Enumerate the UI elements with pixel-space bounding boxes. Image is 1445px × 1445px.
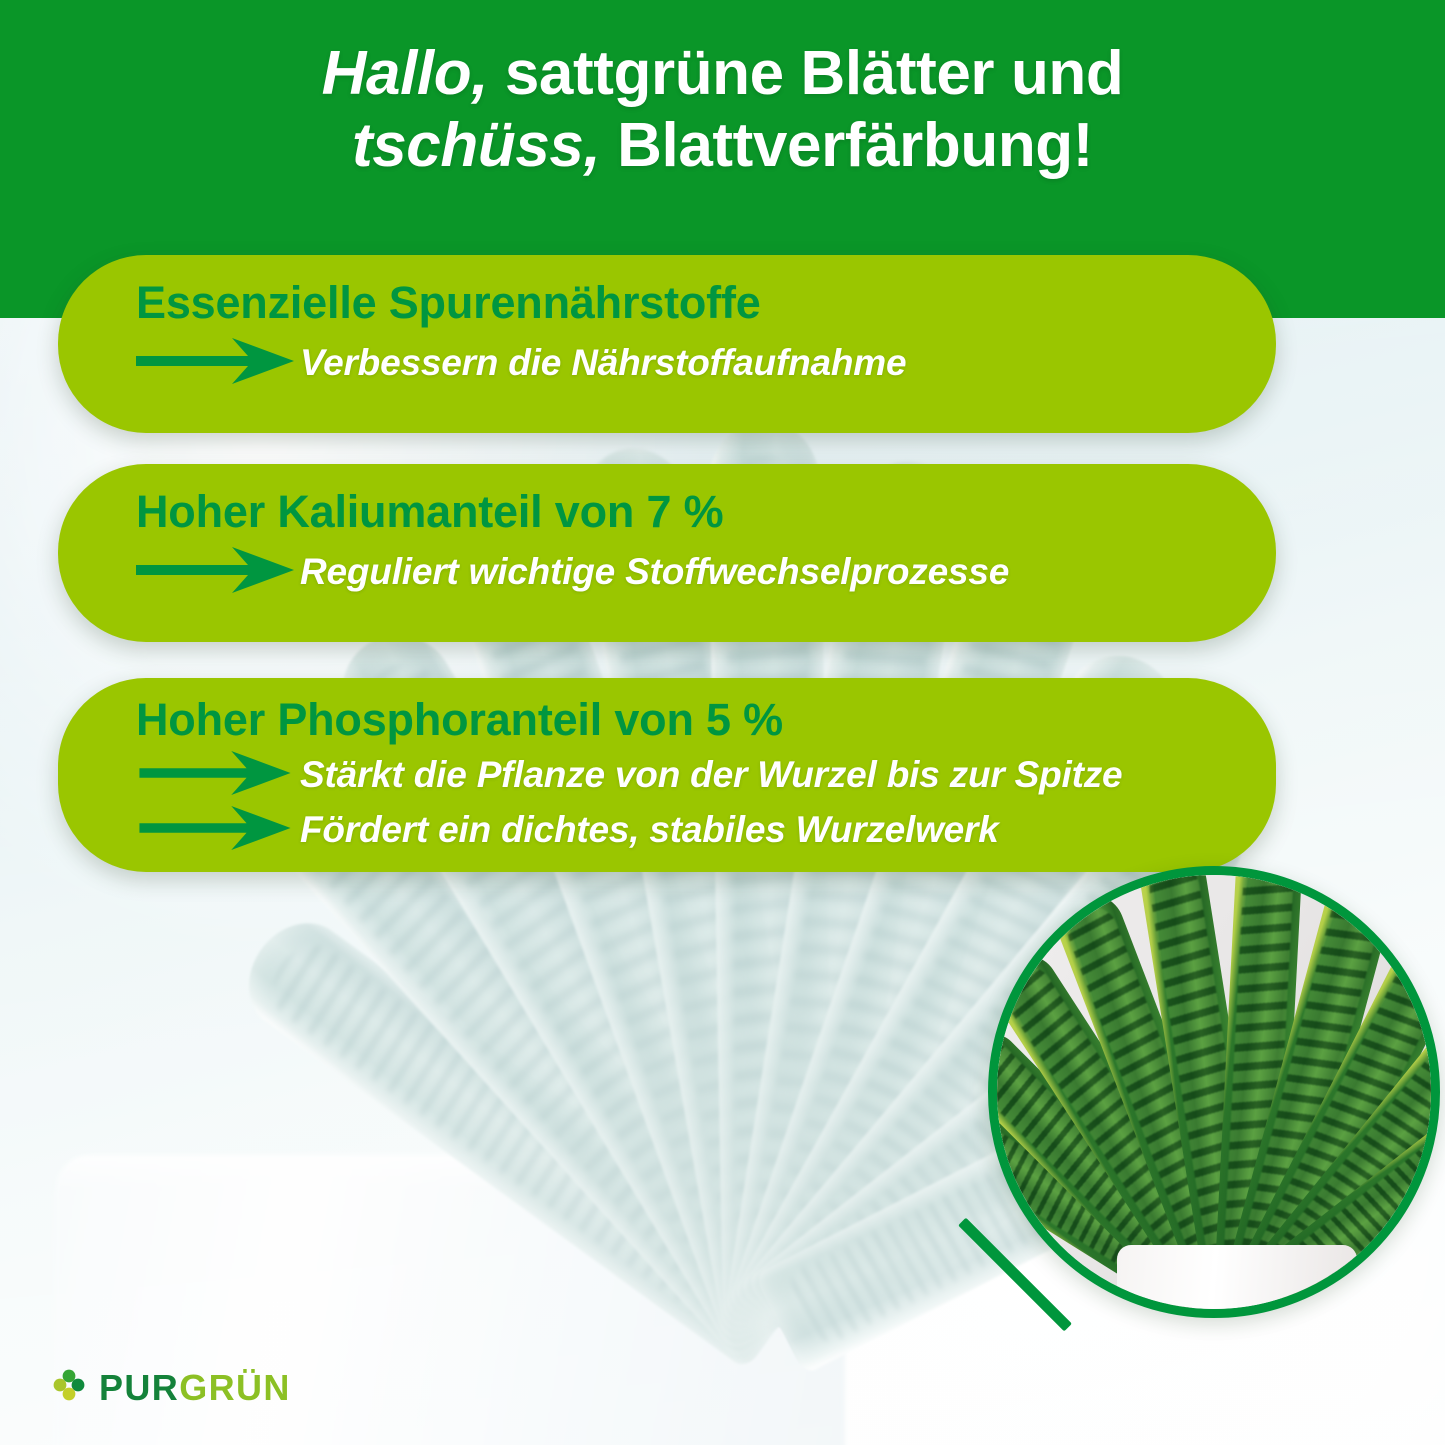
feature-card-heading: Hoher Phosphoranteil von 5 %: [136, 696, 1276, 745]
brand-logo: PURGRÜN: [52, 1368, 291, 1407]
feature-bullet-row: Fördert ein dichtes, stabiles Wurzelwerk: [136, 806, 1276, 855]
feature-card-phosphoranteil: Hoher Phosphoranteil von 5 % Stärkt die …: [58, 678, 1276, 872]
feature-bullet-text: Stärkt die Pflanze von der Wurzel bis zu…: [300, 755, 1122, 796]
feature-bullet-text: Verbessern die Nährstoffaufnahme: [300, 343, 906, 384]
page-title-line-2-rest: Blattverfärbung!: [600, 111, 1093, 180]
feature-bullet-row: Stärkt die Pflanze von der Wurzel bis zu…: [136, 751, 1276, 800]
feature-card-heading: Hoher Kaliumanteil von 7 %: [136, 488, 1276, 537]
feature-card-spurennaehrstoffe: Essenzielle Spurennährstoffe Verbessern …: [58, 255, 1276, 433]
feature-bullet-text: Fördert ein dichtes, stabiles Wurzelwerk: [300, 810, 999, 851]
arrow-right-icon: [136, 547, 294, 598]
closeup-plant-pot: [1117, 1245, 1357, 1309]
arrow-right-icon: [136, 751, 294, 800]
arrow-right-icon: [136, 806, 294, 855]
quatrefoil-dots-icon: [52, 1368, 86, 1407]
brand-logo-grun: GRÜN: [179, 1367, 291, 1408]
feature-bullet-text: Reguliert wichtige Stoffwechselprozesse: [300, 552, 1009, 593]
page-title-line-2-italic: tschüss,: [352, 111, 600, 180]
page-title-line-1: Hallo, sattgrüne Blätter und: [0, 38, 1445, 110]
brand-logo-pur: PUR: [99, 1367, 179, 1408]
page-title-line-2: tschüss, Blattverfärbung!: [0, 110, 1445, 182]
page-title: Hallo, sattgrüne Blätter und tschüss, Bl…: [0, 38, 1445, 182]
feature-bullet-row: Reguliert wichtige Stoffwechselprozesse: [136, 547, 1276, 598]
arrow-right-icon: [136, 338, 294, 389]
magnifier-closeup: [988, 866, 1440, 1318]
magnifier-circle-plant-closeup: [988, 866, 1440, 1318]
page-title-line-1-rest: sattgrüne Blätter und: [488, 39, 1123, 108]
page-title-line-1-italic: Hallo,: [322, 39, 488, 108]
feature-card-kaliumanteil: Hoher Kaliumanteil von 7 % Reguliert wic…: [58, 464, 1276, 642]
magnifier-image: [997, 875, 1431, 1309]
brand-logo-text: PURGRÜN: [99, 1370, 291, 1406]
feature-card-heading: Essenzielle Spurennährstoffe: [136, 279, 1276, 328]
feature-bullet-row: Verbessern die Nährstoffaufnahme: [136, 338, 1276, 389]
